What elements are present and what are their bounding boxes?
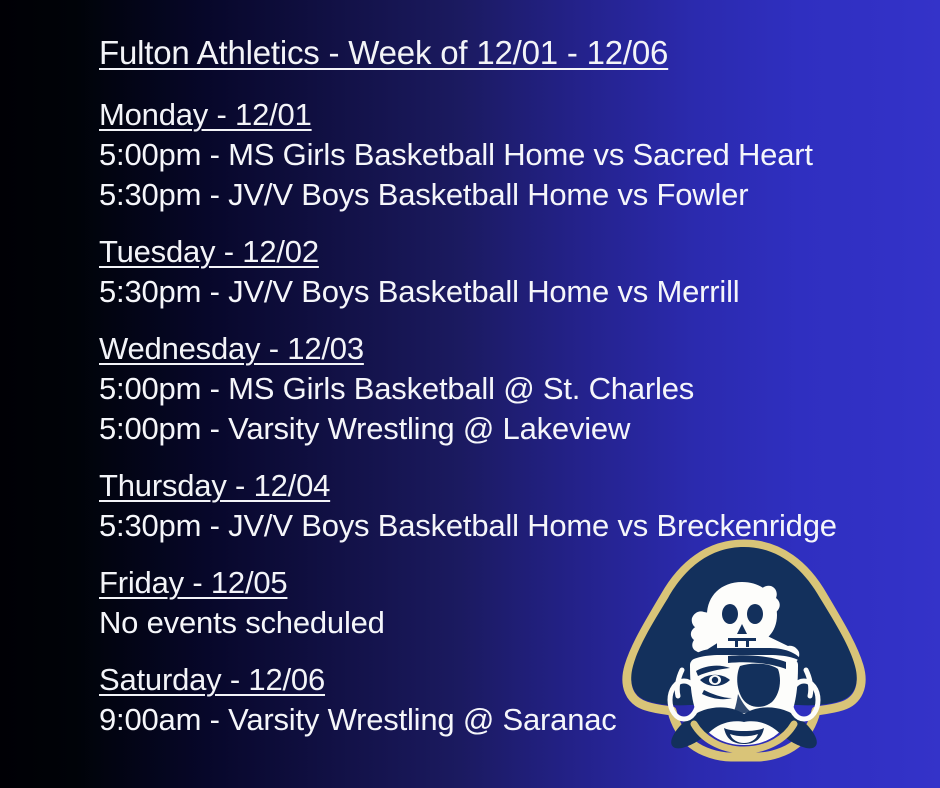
pirate-face	[671, 648, 817, 748]
pirate-mascot-icon	[620, 538, 868, 766]
poster-canvas: Fulton Athletics - Week of 12/01 - 12/06…	[0, 0, 940, 788]
day-block-monday: Monday - 12/01 5:00pm - MS Girls Basketb…	[99, 95, 899, 215]
event-item: 5:30pm - JV/V Boys Basketball Home vs Fo…	[99, 175, 899, 215]
day-block-tuesday: Tuesday - 12/02 5:30pm - JV/V Boys Baske…	[99, 232, 899, 312]
day-heading-wednesday: Wednesday - 12/03	[99, 329, 899, 369]
skull-left-eye	[722, 604, 738, 624]
pirate-mascot-logo	[620, 538, 868, 766]
page-title: Fulton Athletics - Week of 12/01 - 12/06	[99, 33, 899, 73]
skull-teeth	[728, 638, 756, 641]
day-heading-thursday: Thursday - 12/04	[99, 466, 899, 506]
day-block-thursday: Thursday - 12/04 5:30pm - JV/V Boys Bask…	[99, 466, 899, 546]
day-heading-tuesday: Tuesday - 12/02	[99, 232, 899, 272]
skull-right-eye	[747, 604, 763, 624]
skull-icon	[707, 582, 777, 655]
event-item: 5:00pm - MS Girls Basketball Home vs Sac…	[99, 135, 899, 175]
day-heading-monday: Monday - 12/01	[99, 95, 899, 135]
event-item: 5:00pm - Varsity Wrestling @ Lakeview	[99, 409, 899, 449]
day-block-wednesday: Wednesday - 12/03 5:00pm - MS Girls Bask…	[99, 329, 899, 449]
event-item: 5:30pm - JV/V Boys Basketball Home vs Me…	[99, 272, 899, 312]
event-item: 5:00pm - MS Girls Basketball @ St. Charl…	[99, 369, 899, 409]
